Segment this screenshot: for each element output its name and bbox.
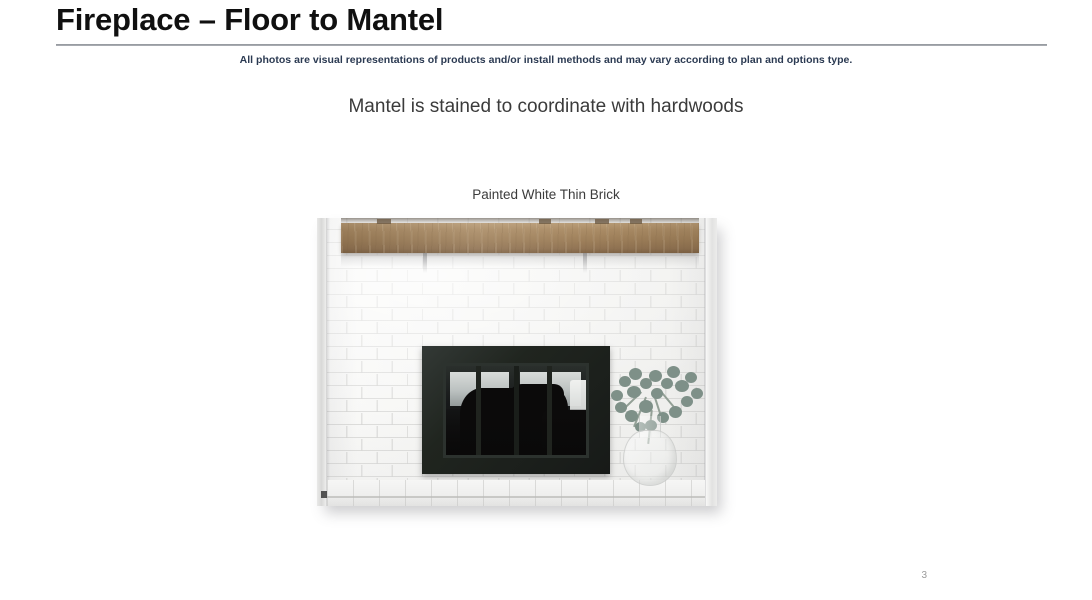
eucalyptus-leaf [615,402,627,413]
eucalyptus-leaf [669,406,682,418]
wood-mantel-beam [341,223,699,253]
under-mantel-shadow [341,253,699,267]
eucalyptus-leaf [625,410,638,422]
eucalyptus-leaf [619,376,631,387]
door-mullion [547,366,552,455]
left-wall-shadow [326,218,330,506]
eucalyptus-leaf [651,388,663,399]
fireplace-photo [317,218,717,506]
firebox-glass-doors [446,366,586,455]
mantel-bracket-left [423,253,427,273]
mantel-top-nub [595,219,609,224]
door-center-split [514,366,519,455]
eucalyptus-leaf [661,378,673,389]
mantel-top-nub [377,219,391,224]
eucalyptus-leaf [639,400,653,413]
glass-vase [623,430,677,486]
disclaimer-text: All photos are visual representations of… [0,54,1092,66]
mantel-top-nub [539,219,551,224]
eucalyptus-leaf [629,368,642,380]
eucalyptus-leaf [627,386,641,398]
slide: Fireplace – Floor to Mantel All photos a… [0,0,1092,600]
hearth-front-edge [327,496,705,498]
eucalyptus-leaf [667,366,680,378]
eucalyptus-leaf [681,396,693,407]
eucalyptus-leaf [649,370,662,382]
right-wall-trim [705,218,717,506]
photo-caption: Painted White Thin Brick [0,187,1092,202]
page-title: Fireplace – Floor to Mantel [56,2,443,38]
wood-grain-texture [341,223,699,253]
firebox-door-frame [443,363,589,458]
firebox [422,346,610,474]
mantel-top-nub [630,219,642,224]
eucalyptus-arrangement [609,366,705,486]
eucalyptus-leaf [685,372,697,383]
photo-content [317,218,717,506]
subtitle-text: Mantel is stained to coordinate with har… [0,96,1092,118]
door-mullion [476,366,481,455]
page-number: 3 [921,570,927,581]
mantel-bracket-right [583,253,587,273]
title-divider [56,44,1047,46]
eucalyptus-leaf [611,390,623,401]
eucalyptus-leaf [691,388,703,399]
